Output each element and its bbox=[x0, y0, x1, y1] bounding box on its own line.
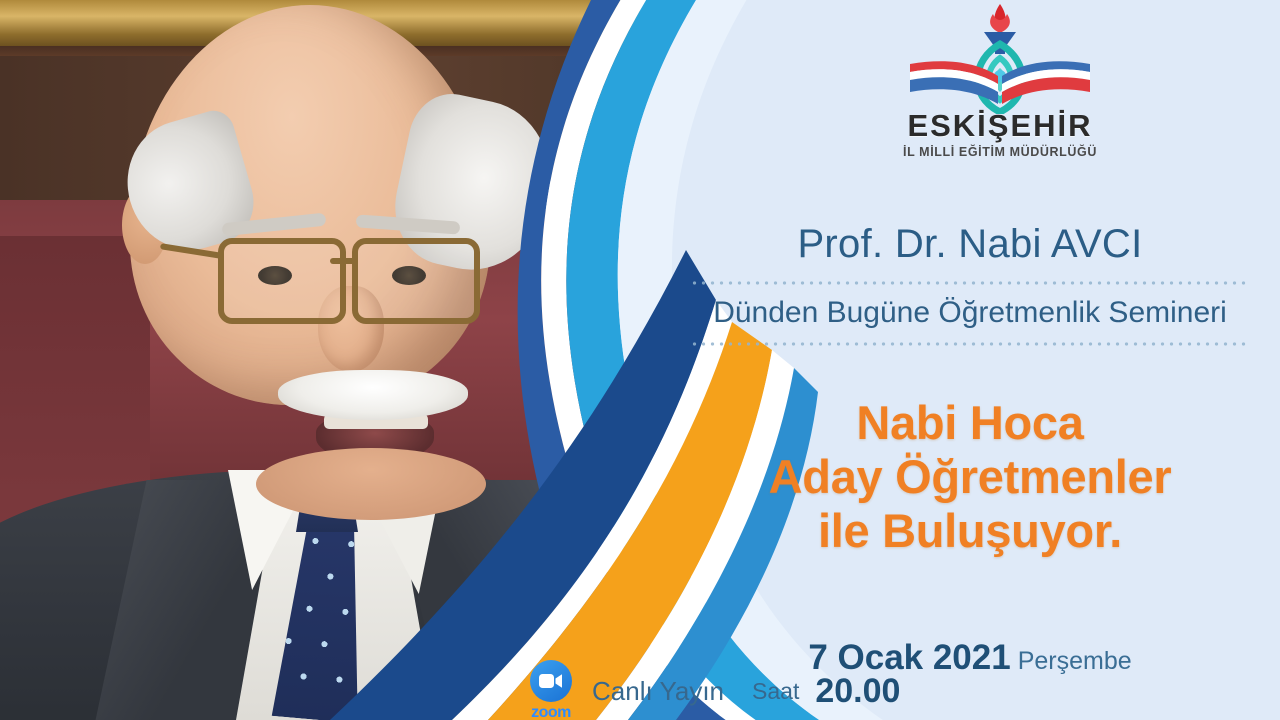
zoom-platform-label: zoom bbox=[531, 704, 571, 720]
headline-line-3: ile Buluşuyor. bbox=[660, 504, 1280, 558]
seminar-title: Dünden Bugüne Öğretmenlik Semineri bbox=[660, 296, 1280, 330]
eyeglasses-bridge bbox=[330, 258, 358, 264]
mustache bbox=[278, 370, 468, 420]
live-broadcast-label: Canlı Yayın bbox=[592, 676, 724, 707]
live-broadcast-row: zoom Canlı Yayın Saat 20.00 bbox=[520, 662, 1120, 720]
headline-line-2: Aday Öğretmenler bbox=[660, 450, 1280, 504]
eyeglasses-lens-left bbox=[218, 238, 346, 324]
event-headline: Nabi Hoca Aday Öğretmenler ile Buluşuyor… bbox=[660, 396, 1280, 558]
speaker-name: Prof. Dr. Nabi AVCI bbox=[660, 222, 1280, 267]
photo-backdrop bbox=[0, 0, 640, 720]
institution-logo: ESKİŞEHİR İL MİLLİ EĞİTİM MÜDÜRLÜĞÜ bbox=[880, 2, 1120, 170]
speaker-photo bbox=[0, 0, 640, 720]
video-camera-icon bbox=[530, 660, 572, 702]
seminar-poster: ESKİŞEHİR İL MİLLİ EĞİTİM MÜDÜRLÜĞÜ Prof… bbox=[0, 0, 1280, 720]
eyeglasses-lens-right bbox=[352, 238, 480, 324]
logo-subtitle: İL MİLLİ EĞİTİM MÜDÜRLÜĞÜ bbox=[880, 145, 1120, 159]
zoom-platform-badge[interactable]: zoom bbox=[520, 660, 582, 720]
divider-dots-top bbox=[690, 281, 1250, 285]
meb-emblem-icon bbox=[880, 2, 1120, 114]
logo-city-name: ESKİŞEHİR bbox=[880, 110, 1120, 141]
headline-line-1: Nabi Hoca bbox=[660, 396, 1280, 450]
time-label: Saat bbox=[752, 678, 799, 705]
video-camera-glyph bbox=[539, 673, 563, 689]
time-value: 20.00 bbox=[815, 672, 900, 711]
chin bbox=[256, 448, 486, 520]
divider-dots-bottom bbox=[690, 342, 1250, 346]
